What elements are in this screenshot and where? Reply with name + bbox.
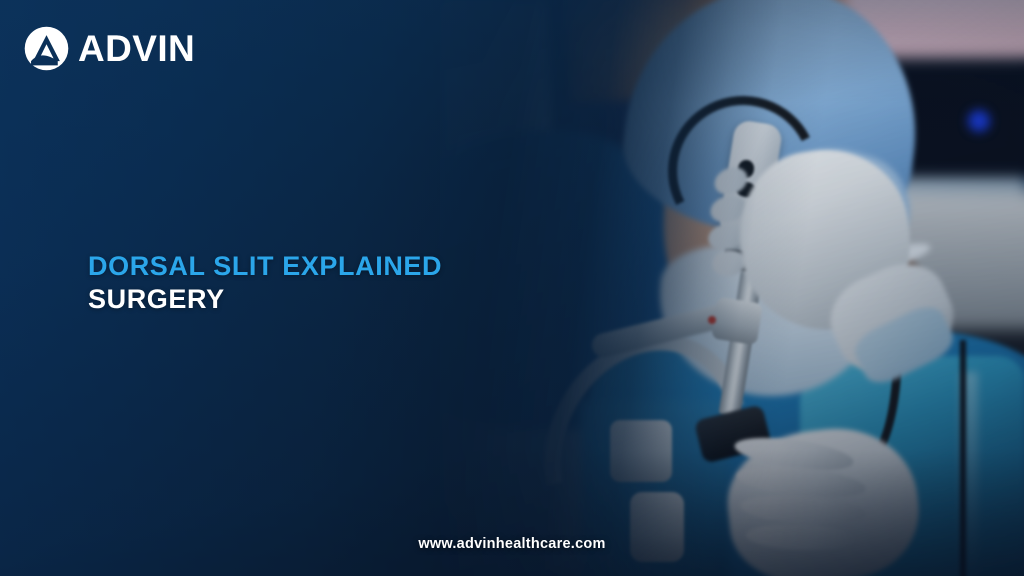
photo-stopcock-valve xyxy=(610,420,672,482)
footer-website-url[interactable]: www.advinhealthcare.com xyxy=(0,536,1024,552)
brand-wordmark: ADVIN xyxy=(78,30,195,67)
headline-block: DORSAL SLIT EXPLAINED SURGERY xyxy=(88,250,648,316)
headline-line-1: DORSAL SLIT EXPLAINED xyxy=(88,250,648,283)
brand-logo[interactable]: ADVIN xyxy=(24,26,195,71)
footer-url-text: www.advinhealthcare.com xyxy=(418,536,605,552)
headline-line-2: SURGERY xyxy=(88,283,648,316)
photo-scope-knob xyxy=(711,297,763,346)
advin-mark-icon xyxy=(24,26,69,71)
photo-indicator-light xyxy=(968,110,990,132)
photo-scope-marker xyxy=(708,316,716,324)
promo-banner: ADVIN DORSAL SLIT EXPLAINED SURGERY www.… xyxy=(0,0,1024,576)
